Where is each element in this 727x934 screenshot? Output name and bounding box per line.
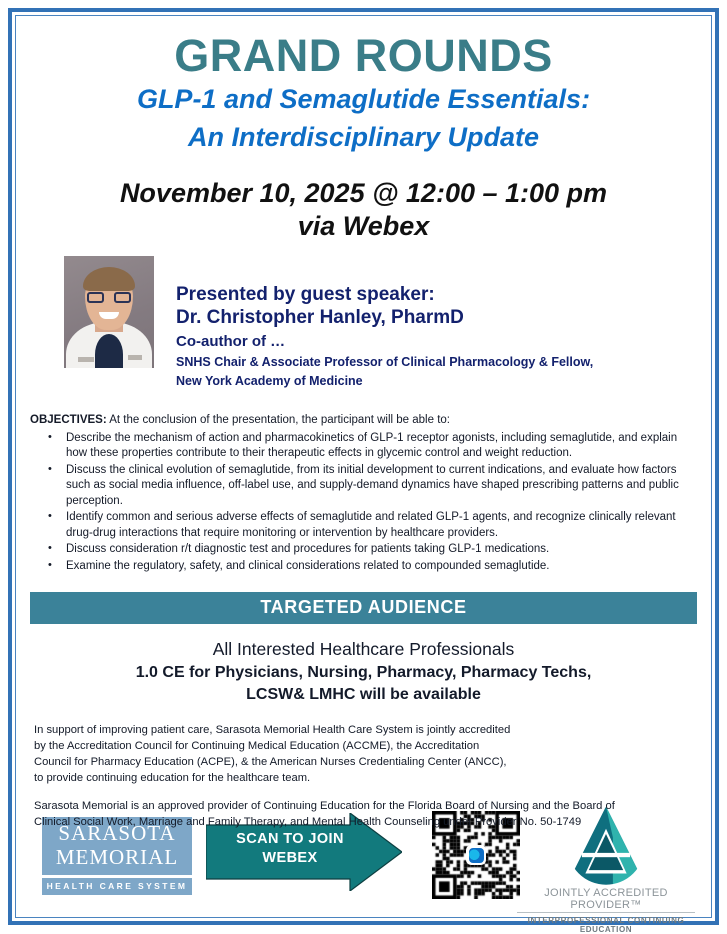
accreditation-p1-line-2: by the Accreditation Council for Continu… (34, 739, 697, 755)
accreditation-p2-line-1: Sarasota Memorial is an approved provide… (34, 799, 697, 815)
event-datetime: November 10, 2025 @ 12:00 – 1:00 pm (30, 177, 697, 210)
accreditation-p2-line-2: Clinical Social Work, Marriage and Famil… (34, 815, 697, 831)
audience-line-3: LCSW& LMHC will be available (30, 684, 697, 706)
objectives-heading: OBJECTIVES: At the conclusion of the pre… (30, 413, 697, 429)
glasses-icon (87, 292, 131, 303)
list-item: Identify common and serious adverse effe… (64, 510, 697, 541)
photo-badge-right (128, 355, 142, 360)
list-item: Discuss the clinical evolution of semagl… (64, 463, 697, 510)
accreditation-p1-line-3: Council for Pharmacy Education (ACPE), &… (34, 755, 697, 771)
audience-line-2: 1.0 CE for Physicians, Nursing, Pharmacy… (30, 662, 697, 684)
speaker-intro: Presented by guest speaker: (176, 283, 593, 307)
photo-badge-left (78, 357, 94, 362)
audience-section: All Interested Healthcare Professionals … (30, 638, 697, 705)
accreditation-section: In support of improving patient care, Sa… (34, 723, 697, 830)
event-platform: via Webex (30, 210, 697, 243)
speaker-affiliation-line-1: SNHS Chair & Associate Professor of Clin… (176, 354, 593, 371)
speaker-block: Presented by guest speaker: Dr. Christop… (30, 253, 697, 390)
objectives-label: OBJECTIVES: (30, 414, 107, 426)
list-item: Discuss consideration r/t diagnostic tes… (64, 542, 697, 558)
accreditation-p1-line-4: to provide continuing education for the … (34, 771, 697, 787)
photo-scrub-top (95, 334, 123, 368)
audience-line-1: All Interested Healthcare Professionals (30, 638, 697, 662)
accreditation-p1-line-1: In support of improving patient care, Sa… (34, 723, 697, 739)
objectives-lead: At the conclusion of the presentation, t… (107, 414, 450, 426)
speaker-photo (64, 256, 154, 368)
objectives-section: OBJECTIVES: At the conclusion of the pre… (30, 413, 697, 574)
objectives-list: Describe the mechanism of action and pha… (30, 431, 697, 575)
speaker-details: Presented by guest speaker: Dr. Christop… (176, 253, 593, 390)
speaker-affiliation-line-2: New York Academy of Medicine (176, 373, 593, 390)
flyer-content: GRAND ROUNDS GLP-1 and Semaglutide Essen… (8, 8, 719, 925)
targeted-audience-banner: TARGETED AUDIENCE (30, 592, 697, 624)
list-item: Examine the regulatory, safety, and clin… (64, 559, 697, 575)
speaker-coauthor: Co-author of … (176, 332, 593, 352)
speaker-name: Dr. Christopher Hanley, PharmD (176, 306, 593, 331)
list-item: Describe the mechanism of action and pha… (64, 431, 697, 462)
flyer-page: GRAND ROUNDS GLP-1 and Semaglutide Essen… (0, 0, 727, 933)
page-title: GRAND ROUNDS (30, 32, 697, 79)
subtitle-line-2: An Interdisciplinary Update (30, 121, 697, 155)
paragraph-spacer (34, 787, 697, 799)
subtitle-line-1: GLP-1 and Semaglutide Essentials: (30, 83, 697, 117)
